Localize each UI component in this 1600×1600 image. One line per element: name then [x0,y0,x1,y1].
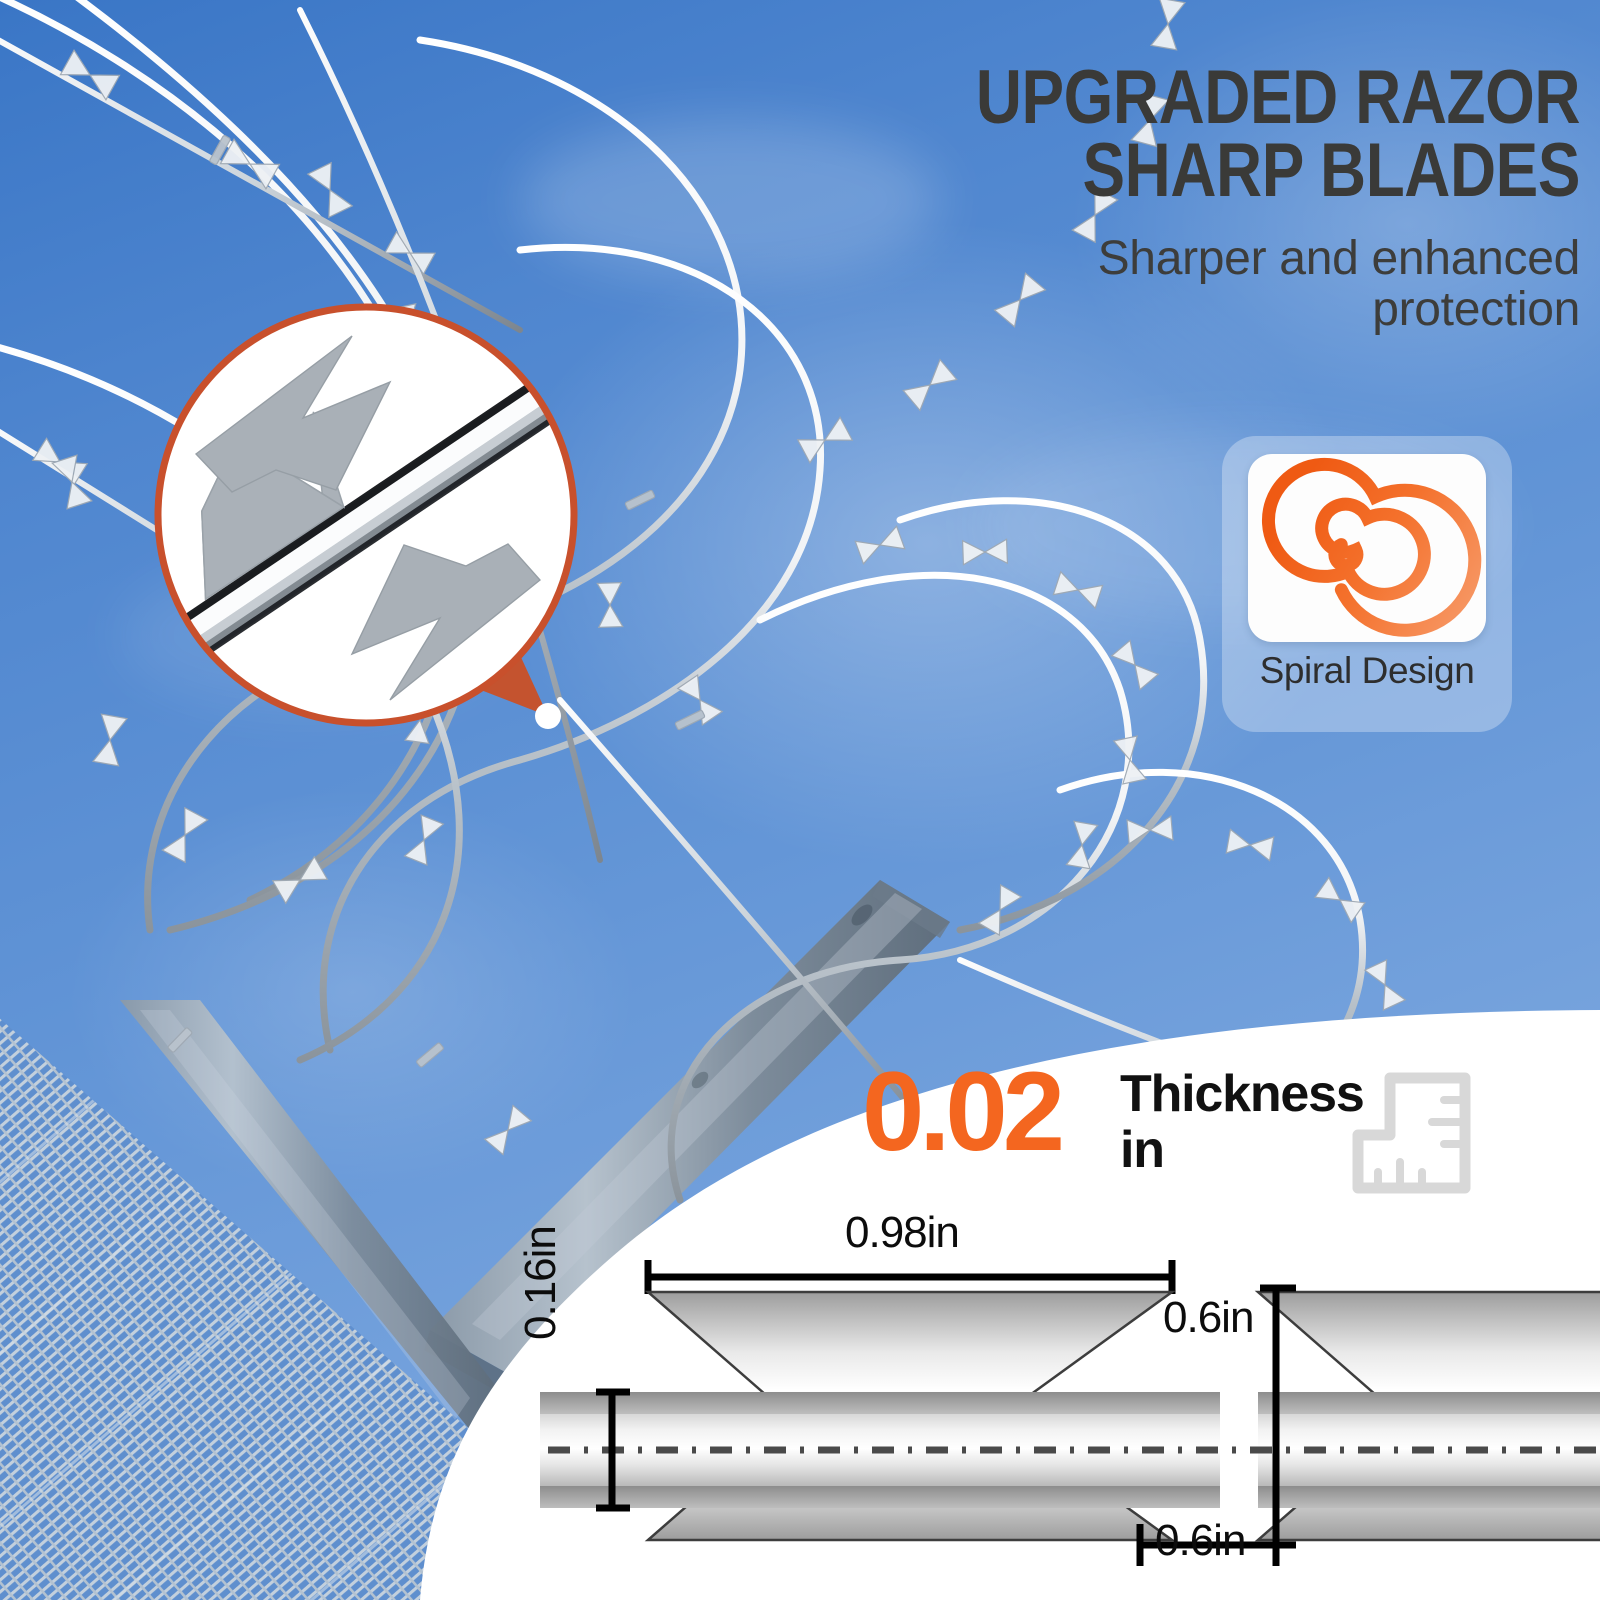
dimension-label-098: 0.98in [845,1208,959,1258]
blade-segment-right [1258,1292,1600,1540]
thickness-callout: 0.02 Thickness in [862,1062,1402,1192]
dimension-label-06-horizontal: 0.6in [1155,1516,1245,1566]
dimension-label-016: 0.16in [516,1226,566,1340]
dimension-label-06-vertical: 0.6in [1163,1293,1253,1343]
thickness-value: 0.02 [862,1056,1060,1168]
thickness-label-line-1: Thickness [1120,1068,1364,1120]
product-feature-image: UPGRADED RAZOR SHARP BLADES Sharper and … [0,0,1600,1600]
thickness-label-line-2: in [1120,1124,1164,1176]
spec-panel [0,0,1600,1600]
